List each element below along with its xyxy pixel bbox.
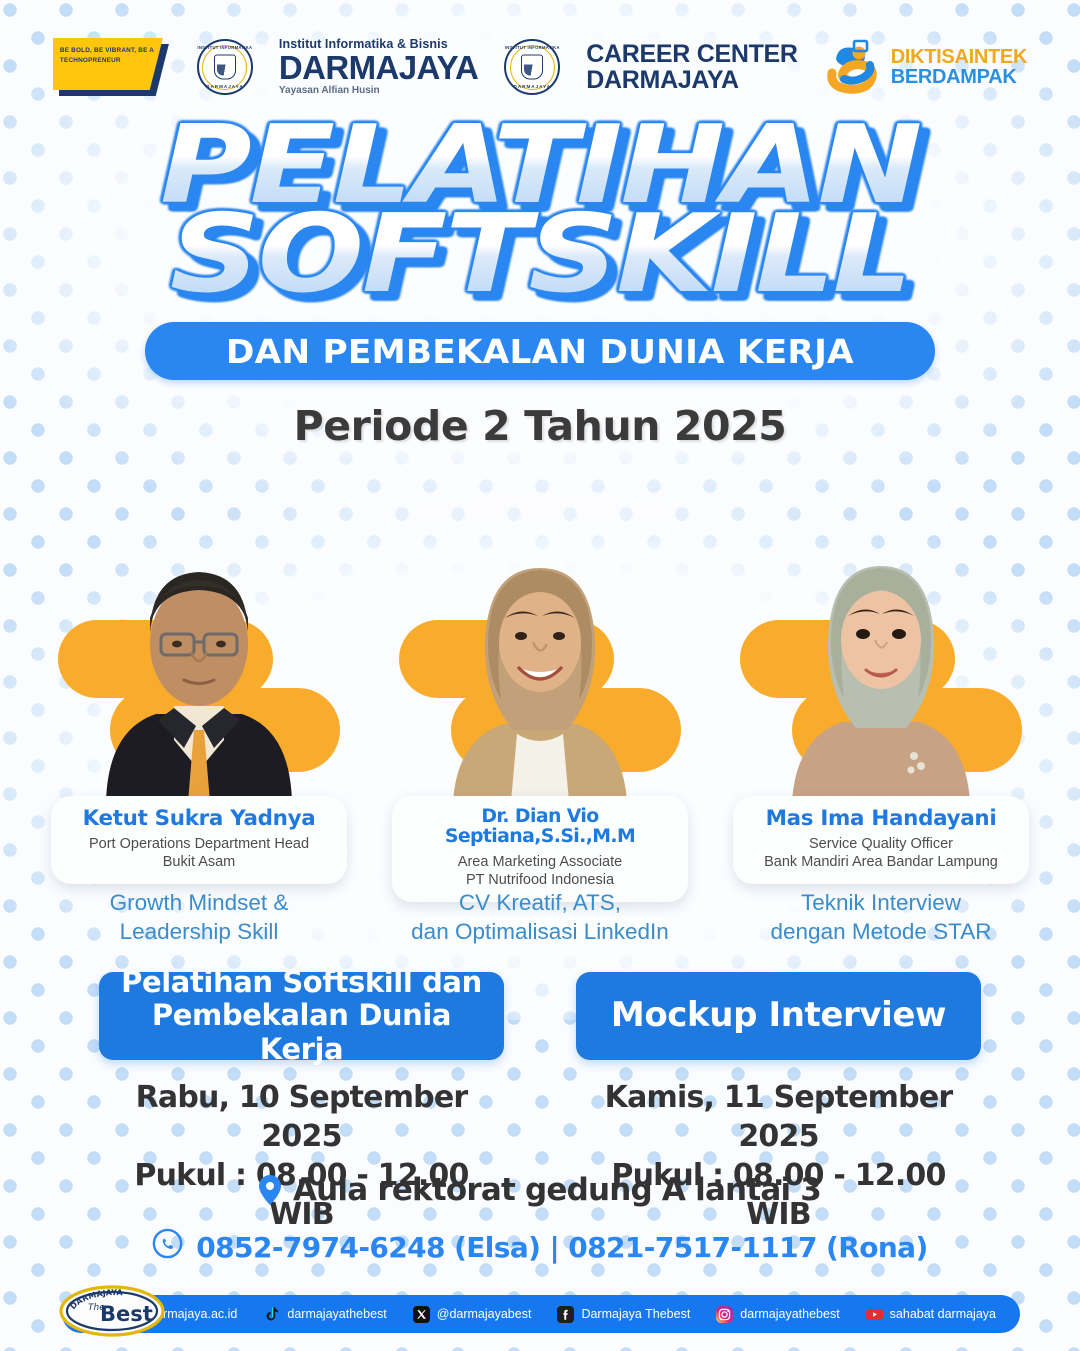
diktisaintek-mark-icon [824, 39, 882, 95]
social-item-facebook[interactable]: Darmajaya Thebest [557, 1306, 690, 1323]
speaker-topic-line1: CV Kreatif, ATS, [459, 890, 621, 915]
speaker-role-line2: Bukit Asam [163, 854, 236, 870]
contact-numbers: 0852-7974-6248 (Elsa) | 0821-7517-1117 (… [196, 1231, 927, 1264]
social-handle: @darmajayabest [437, 1307, 532, 1321]
social-handle: darmajayathebest [287, 1307, 386, 1321]
tiktok-icon [263, 1306, 280, 1323]
speaker-nameplate: Mas Ima Handayani Service Quality Office… [733, 796, 1029, 884]
seal-bottom-text: DARMAJAYA [514, 84, 552, 89]
speaker-portrait-svg [780, 534, 982, 802]
seal-top-text: INSTITUT INFORMATIKA [197, 45, 252, 50]
speaker-role: Service Quality Officer Bank Mandiri Are… [741, 835, 1021, 871]
event-title: Mockup Interview [611, 996, 946, 1035]
event-title: Pelatihan Softskill dan Pembekalan Dunia… [113, 966, 490, 1067]
location-pin-icon [259, 1175, 281, 1205]
header-logo-bar: BE BOLD, BE VIBRANT, BE A TECHNOPRENEUR … [0, 28, 1080, 106]
speaker-topic: Teknik Interview dengan Metode STAR [722, 888, 1040, 947]
event-date: Kamis, 11 September 2025 [605, 1080, 953, 1154]
title-section: PELATIHAN SOFTSKILL DAN PEMBEKALAN DUNIA… [0, 118, 1080, 450]
speaker-card: Mas Ima Handayani Service Quality Office… [722, 520, 1040, 950]
title-line-2: SOFTSKILL [0, 207, 1080, 302]
seal-shield-icon [214, 55, 236, 80]
seal-bottom-text: DARMAJAYA [206, 84, 244, 89]
event-datetime: Kamis, 11 September 2025 Pukul : 08.00 -… [576, 1078, 981, 1234]
speaker-role-line1: Port Operations Department Head [89, 836, 309, 852]
instagram-icon [716, 1306, 733, 1323]
social-item-instagram[interactable]: darmajayathebest [716, 1306, 839, 1323]
event-date: Rabu, 10 September 2025 [136, 1080, 468, 1154]
darmajaya-seal-icon: INSTITUT INFORMATIKA DARMAJAYA [197, 39, 253, 95]
social-handle: Darmajaya Thebest [581, 1307, 690, 1321]
seal-top-text: INSTITUT INFORMATIKA [505, 45, 560, 50]
subtitle-banner-text: DAN PEMBEKALAN DUNIA KERJA [226, 332, 854, 371]
tagline-badge: BE BOLD, BE VIBRANT, BE A TECHNOPRENEUR [53, 38, 171, 96]
speaker-card: Dr. Dian Vio Septiana,S.Si.,M.M Area Mar… [381, 520, 699, 950]
speaker-topic: Growth Mindset & Leadership Skill [40, 888, 358, 947]
facebook-svg [557, 1306, 574, 1323]
speaker-role-line1: Service Quality Officer [809, 836, 953, 852]
event-title-line1: Mockup Interview [611, 995, 946, 1035]
whatsapp-icon [152, 1228, 183, 1266]
speaker-role-line2: PT Nutrifood Indonesia [466, 872, 614, 888]
location-text: Aula rektorat gedung A lantai 3 [293, 1172, 821, 1208]
speaker-photo [439, 534, 641, 802]
speaker-name: Ketut Sukra Yadnya [56, 807, 342, 830]
speaker-photo [780, 534, 982, 802]
youtube-icon [866, 1306, 883, 1323]
speakers-section: Ketut Sukra Yadnya Port Operations Depar… [40, 520, 1040, 950]
x-svg [413, 1306, 430, 1323]
poster-canvas: BE BOLD, BE VIBRANT, BE A TECHNOPRENEUR … [0, 0, 1080, 1351]
event-title-box[interactable]: Pelatihan Softskill dan Pembekalan Dunia… [99, 972, 504, 1060]
career-center-seal-icon: INSTITUT INFORMATIKA DARMAJAYA [504, 39, 560, 95]
social-item-tiktok[interactable]: darmajayathebest [263, 1306, 386, 1323]
diktisaintek-line2: BERDAMPAK [891, 67, 1027, 87]
institute-foundation: Yayasan Alfian Husin [279, 86, 478, 96]
event-datetime: Rabu, 10 September 2025 Pukul : 08.00 - … [99, 1078, 504, 1234]
pin-svg [259, 1175, 281, 1205]
speaker-topic-line1: Growth Mindset & [110, 890, 289, 915]
seal-shield-icon [521, 55, 543, 80]
speaker-topic-line2: Leadership Skill [120, 919, 279, 944]
speaker-photo [98, 534, 300, 802]
period-text: Periode 2 Tahun 2025 [0, 402, 1080, 450]
tagline-text: BE BOLD, BE VIBRANT, BE A TECHNOPRENEUR [60, 46, 156, 65]
speaker-nameplate: Dr. Dian Vio Septiana,S.Si.,M.M Area Mar… [392, 796, 688, 902]
speaker-topic: CV Kreatif, ATS, dan Optimalisasi Linked… [381, 888, 699, 947]
x-twitter-icon [413, 1306, 430, 1323]
the-best-badge: DARMAJAYA The Best [58, 1285, 166, 1337]
speaker-role: Port Operations Department Head Bukit As… [59, 835, 339, 871]
speaker-nameplate: Ketut Sukra Yadnya Port Operations Depar… [51, 796, 347, 884]
speaker-name: Dr. Dian Vio Septiana,S.Si.,M.M [397, 807, 683, 848]
career-center-line2: DARMAJAYA [586, 67, 797, 93]
social-item-youtube[interactable]: sahabat darmajaya [866, 1306, 996, 1323]
facebook-icon [557, 1306, 574, 1323]
social-footer-bar: www.darmajaya.ac.id darmajayathebest @da… [62, 1295, 1020, 1333]
social-handle: sahabat darmajaya [890, 1307, 996, 1321]
contact-row[interactable]: 0852-7974-6248 (Elsa) | 0821-7517-1117 (… [0, 1228, 1080, 1266]
subtitle-banner: DAN PEMBEKALAN DUNIA KERJA [145, 322, 935, 380]
institute-wordmark: Institut Informatika & Bisnis DARMAJAYA … [279, 38, 478, 97]
career-center-line1: CAREER CENTER [586, 41, 797, 67]
diktisaintek-svg [824, 39, 882, 95]
diktisaintek-wordmark: DIKTISAINTEK BERDAMPAK [891, 47, 1027, 88]
diktisaintek-line1: DIKTISAINTEK [891, 47, 1027, 67]
whatsapp-svg [152, 1228, 183, 1259]
speaker-topic-line2: dengan Metode STAR [771, 919, 992, 944]
speaker-card: Ketut Sukra Yadnya Port Operations Depar… [40, 520, 358, 950]
speaker-topic-line2: dan Optimalisasi LinkedIn [411, 919, 669, 944]
event-title-line2: Pembekalan Dunia Kerja [152, 998, 451, 1066]
diktisaintek-logo: DIKTISAINTEK BERDAMPAK [824, 39, 1027, 95]
speaker-role-line1: Area Marketing Associate [458, 854, 622, 870]
the-best-badge-svg: DARMAJAYA The Best [58, 1285, 166, 1337]
event-title-line1: Pelatihan Softskill dan [121, 965, 482, 999]
speaker-role-line2: Bank Mandiri Area Bandar Lampung [764, 854, 998, 870]
speaker-role: Area Marketing Associate PT Nutrifood In… [400, 853, 680, 889]
institute-name: DARMAJAYA [279, 51, 478, 84]
speaker-portrait-svg [439, 534, 641, 802]
speaker-portrait-svg [98, 534, 300, 802]
social-item-x[interactable]: @darmajayabest [413, 1306, 532, 1323]
speaker-name: Mas Ima Handayani [738, 807, 1024, 830]
career-center-wordmark: CAREER CENTER DARMAJAYA [586, 41, 797, 93]
tiktok-svg [263, 1306, 280, 1323]
speaker-topic-line1: Teknik Interview [801, 890, 961, 915]
svg-text:Best: Best [100, 1302, 153, 1326]
social-handle: darmajayathebest [740, 1307, 839, 1321]
location-row: Aula rektorat gedung A lantai 3 [0, 1172, 1080, 1208]
youtube-svg [866, 1306, 883, 1323]
instagram-svg [716, 1306, 733, 1323]
event-title-box[interactable]: Mockup Interview [576, 972, 981, 1060]
